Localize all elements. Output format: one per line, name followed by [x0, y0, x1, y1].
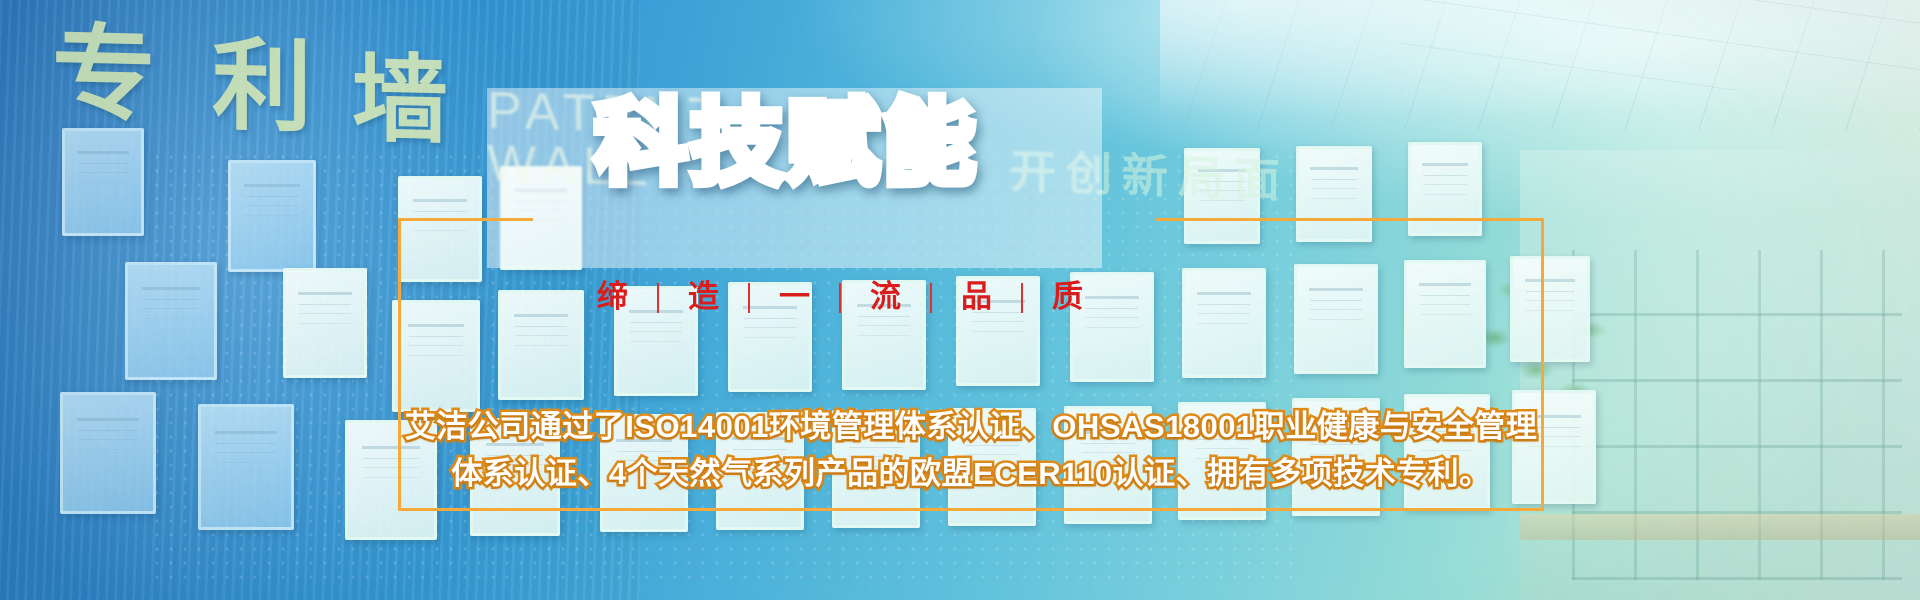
- certificate-frame: [60, 392, 156, 514]
- wall-character-zhuan: 专: [52, 21, 156, 128]
- certificate-frame: [198, 404, 294, 530]
- certificate-frame: [283, 268, 367, 378]
- body-paragraph: 艾洁公司通过了ISO14001环境管理体系认证、OHSAS18001职业健康与安…: [398, 403, 1544, 497]
- wall-character-li: 利: [212, 35, 312, 137]
- certificate-frame: [125, 262, 217, 380]
- decorative-frame-top-left: [398, 218, 533, 221]
- body-line-1: 艾洁公司通过了ISO14001环境管理体系认证、OHSAS18001职业健康与安…: [398, 403, 1544, 450]
- body-line-2: 体系认证、4个天然气系列产品的欧盟ECER110认证、拥有多项技术专利。: [398, 450, 1544, 497]
- page-title: 科技赋能: [595, 95, 979, 193]
- certificate-frame: [228, 160, 316, 272]
- patent-wall-banner: 专 利 墙 PATENT WALL 开创新局面 科技赋能 缔 造 一 流 品 质…: [0, 0, 1920, 600]
- certificate-frame: [62, 128, 144, 236]
- decorative-frame-top-right: [1155, 218, 1544, 221]
- wall-character-qiang: 墙: [352, 51, 448, 149]
